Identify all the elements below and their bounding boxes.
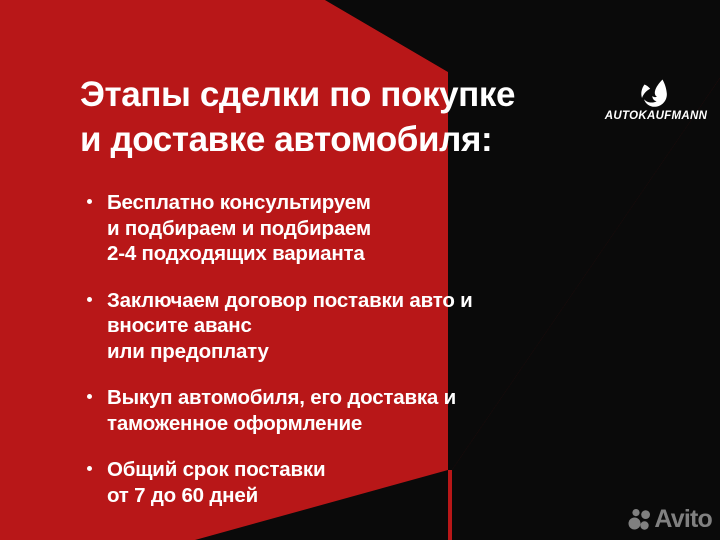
headline-line-1: Этапы сделки по покупке <box>80 72 600 117</box>
list-item: Выкуп автомобиля, его доставка и таможен… <box>85 385 605 436</box>
brand-logo: AUTOKAUFMANN <box>600 78 712 122</box>
list-item-line: Заключаем договор поставки авто и <box>107 288 605 314</box>
promo-banner: Этапы сделки по покупке и доставке автом… <box>0 0 720 540</box>
brand-wordmark: AUTOKAUFMANN <box>600 110 712 122</box>
list-item-line: Выкуп автомобиля, его доставка и <box>107 385 605 411</box>
headline-line-2: и доставке автомобиля: <box>80 117 600 162</box>
bullet-dot-icon <box>87 466 92 471</box>
list-item-line: вносите аванс <box>107 313 605 339</box>
list-item-line: или предоплату <box>107 339 605 365</box>
list-item-line: Общий срок поставки <box>107 457 605 483</box>
steps-list: Бесплатно консультируем и подбираем и по… <box>85 190 605 508</box>
list-item-line: таможенное оформление <box>107 411 605 437</box>
bullet-dot-icon <box>87 297 92 302</box>
avito-dots-icon <box>627 508 651 532</box>
headline: Этапы сделки по покупке и доставке автом… <box>80 72 600 162</box>
list-item: Общий срок поставки от 7 до 60 дней <box>85 457 605 508</box>
bullet-dot-icon <box>87 199 92 204</box>
list-item: Заключаем договор поставки авто и вносит… <box>85 288 605 365</box>
list-item-line: Бесплатно консультируем <box>107 190 605 216</box>
bullet-dot-icon <box>87 394 92 399</box>
list-item-line: от 7 до 60 дней <box>107 483 605 509</box>
autokaufmann-flame-icon <box>639 78 673 108</box>
avito-wordmark: Avito <box>654 507 712 532</box>
list-item: Бесплатно консультируем и подбираем и по… <box>85 190 605 267</box>
list-item-line: и подбираем и подбираем <box>107 216 605 242</box>
list-item-line: 2-4 подходящих варианта <box>107 241 605 267</box>
avito-watermark: Avito <box>627 507 712 532</box>
